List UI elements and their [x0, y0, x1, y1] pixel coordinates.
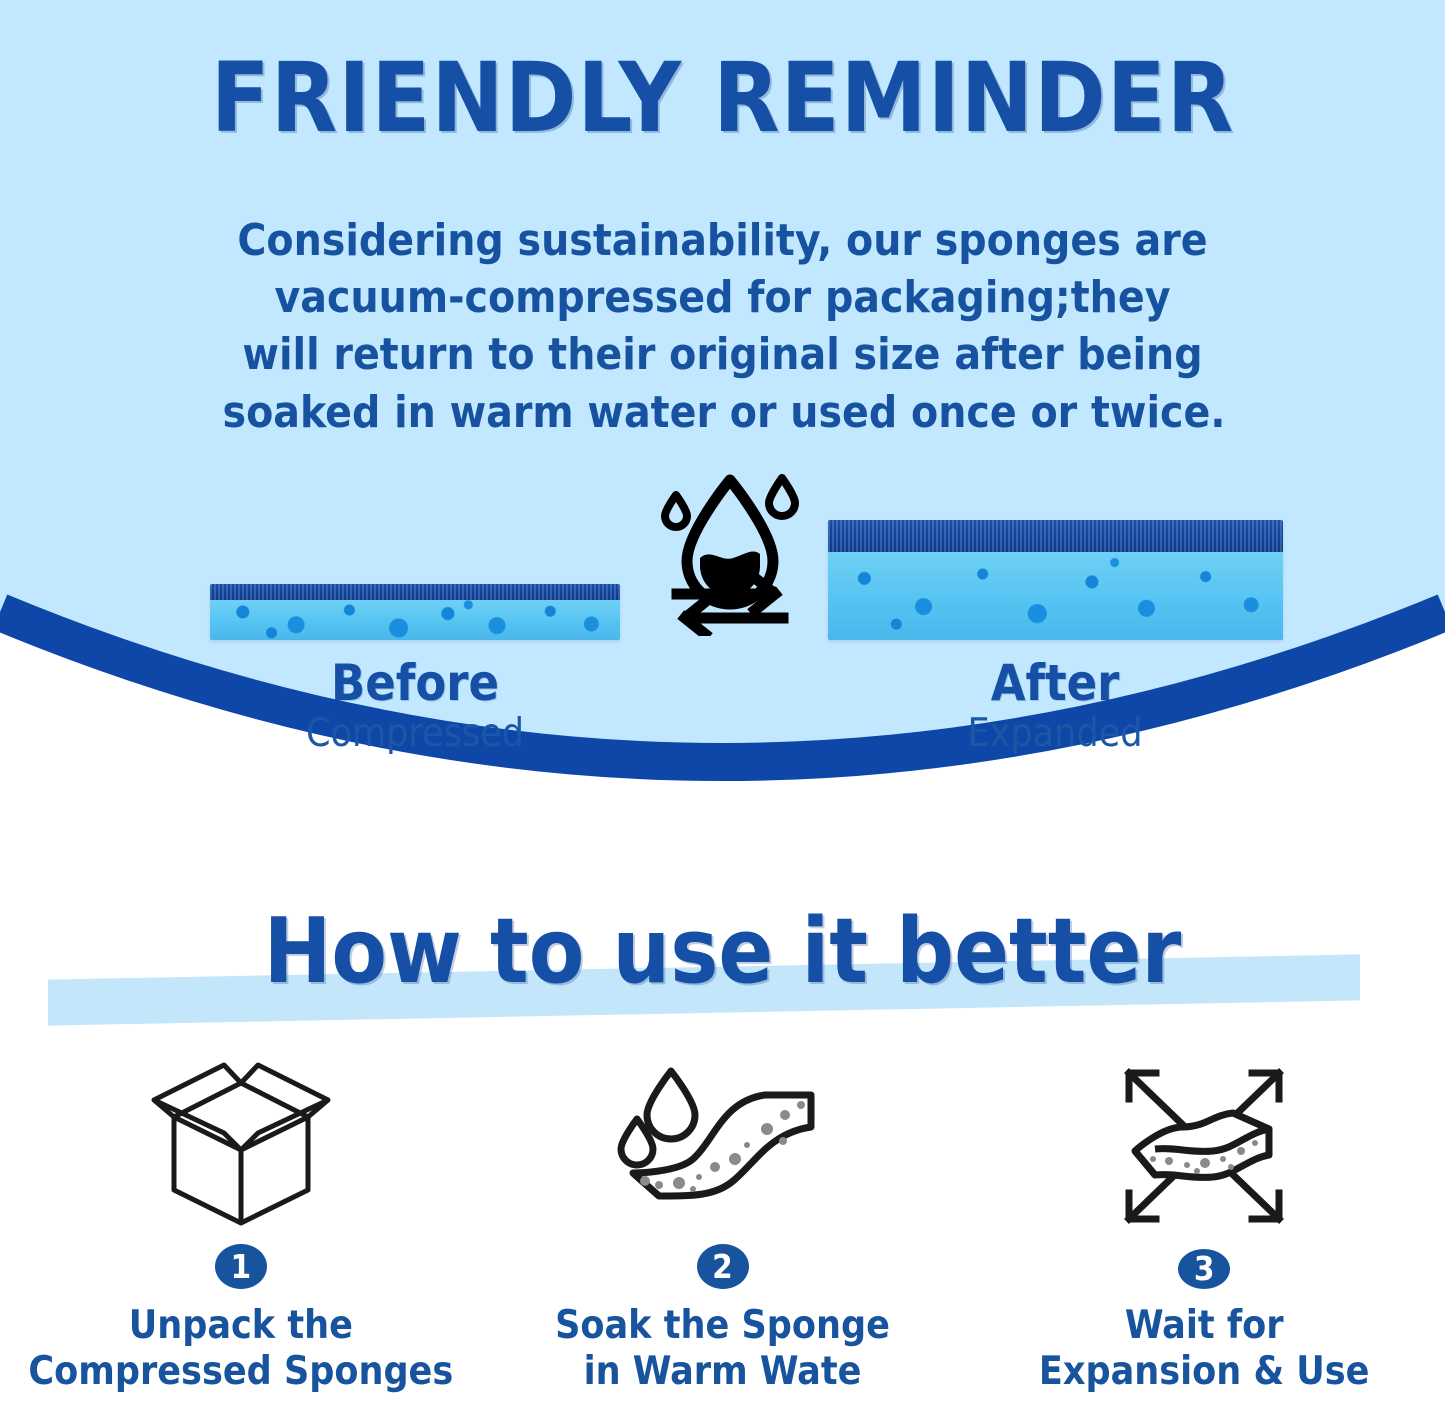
- compressed-sponge-icon: [140, 470, 690, 640]
- after-subtitle: Expanded: [785, 714, 1325, 753]
- step-label: Unpack the Compressed Sponges: [28, 1303, 453, 1395]
- howto-heading-banner: How to use it better: [0, 905, 1445, 1030]
- step-item: 1 Unpack the Compressed Sponges: [0, 1055, 482, 1395]
- step-label-line: in Warm Wate: [555, 1349, 890, 1395]
- step-number-badge: 2: [697, 1244, 749, 1289]
- intro-paragraph: Considering sustainability, our sponges …: [223, 212, 1223, 441]
- howto-heading: How to use it better: [0, 905, 1445, 1000]
- expanded-sponge-icon: [785, 470, 1325, 640]
- water-drop-exchange-icon: [655, 466, 805, 636]
- page-title: FRIENDLY REMINDER: [0, 48, 1445, 149]
- open-box-icon: [136, 1055, 346, 1230]
- howto-steps: 1 Unpack the Compressed Sponges: [0, 1055, 1445, 1395]
- before-title: Before: [140, 658, 690, 708]
- step-label: Soak the Sponge in Warm Wate: [555, 1303, 890, 1395]
- step-item: 3 Wait for Expansion & Use: [963, 1055, 1445, 1395]
- intro-line: vacuum-compressed for packaging;they: [223, 269, 1223, 326]
- infographic-page: FRIENDLY REMINDER Considering sustainabi…: [0, 0, 1445, 1406]
- step-number-badge: 3: [1178, 1249, 1230, 1289]
- intro-line: will return to their original size after…: [223, 326, 1223, 383]
- hero-panel: FRIENDLY REMINDER Considering sustainabi…: [0, 0, 1445, 900]
- step-item: 2 Soak the Sponge in Warm Wate: [482, 1055, 964, 1395]
- after-title: After: [785, 658, 1325, 708]
- before-subtitle: Compressed: [140, 714, 690, 753]
- step-label-line: Expansion & Use: [1039, 1349, 1370, 1395]
- before-column: Before Compressed: [140, 470, 690, 753]
- step-label: Wait for Expansion & Use: [1039, 1303, 1370, 1395]
- intro-line: Considering sustainability, our sponges …: [223, 212, 1223, 269]
- step-label-line: Wait for: [1039, 1303, 1370, 1349]
- sponge-water-drops-icon: [615, 1055, 830, 1230]
- intro-line: soaked in warm water or used once or twi…: [223, 384, 1223, 441]
- step-label-line: Unpack the: [28, 1303, 453, 1349]
- step-number-badge: 1: [215, 1244, 267, 1289]
- step-label-line: Compressed Sponges: [28, 1349, 453, 1395]
- after-column: After Expanded: [785, 470, 1325, 753]
- sponge-expansion-arrows-icon: [1109, 1055, 1299, 1235]
- step-label-line: Soak the Sponge: [555, 1303, 890, 1349]
